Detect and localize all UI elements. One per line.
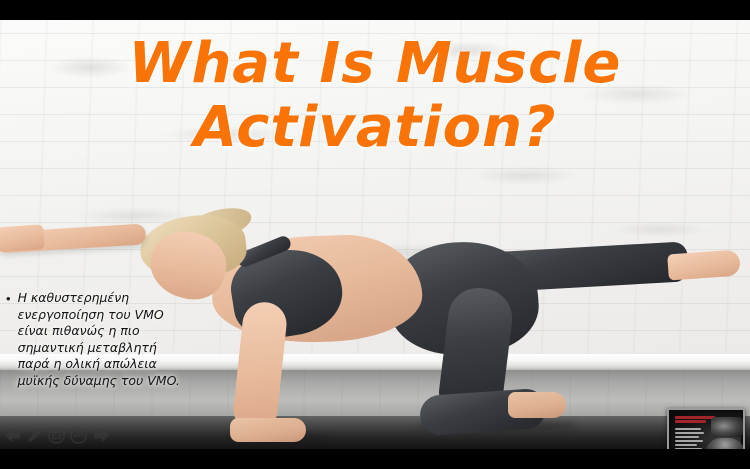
slideshow-toolbar[interactable] — [3, 424, 110, 446]
bullet-paragraph: Η καθυστερημένη ενεργοποίηση του VMO είν… — [18, 290, 186, 390]
slide-title: What Is Muscle Activation? — [0, 32, 750, 160]
kneeling-foot — [508, 392, 566, 418]
next-slide-thumbnail[interactable] — [667, 408, 745, 449]
thumbnail-text-line — [675, 444, 697, 446]
supporting-hand — [230, 418, 306, 442]
thumbnail-image-bottom — [705, 438, 745, 449]
thumbnail-text-line — [675, 428, 701, 430]
extended-foot — [667, 250, 741, 281]
bullet-marker: • — [6, 290, 11, 390]
slide-body-text: • Η καθυστερημένη ενεργοποίηση του VMO ε… — [6, 290, 186, 390]
thumbnail-title-line-1 — [675, 416, 715, 419]
floor-shadow — [0, 416, 750, 449]
thumbnail-content — [671, 412, 741, 449]
letterbox-bar-bottom — [0, 449, 750, 469]
thumbnail-title-line-2 — [675, 420, 706, 423]
slide-canvas[interactable]: What Is Muscle Activation? • Η καθυστερη… — [0, 20, 750, 449]
slide-title-line-1: What Is Muscle — [129, 31, 622, 96]
presentation-viewer[interactable]: What Is Muscle Activation? • Η καθυστερη… — [0, 0, 750, 469]
thumbnail-text-line — [675, 436, 699, 438]
slide-title-line-2: Activation? — [0, 96, 750, 160]
all-slides-icon[interactable] — [47, 426, 66, 445]
thumbnail-image-top — [711, 417, 743, 437]
thumbnail-text-line — [675, 432, 704, 434]
more-options-icon[interactable] — [69, 426, 88, 445]
pen-icon[interactable] — [25, 426, 44, 445]
previous-slide-arrow-icon[interactable] — [3, 426, 22, 445]
letterbox-bar-top — [0, 0, 750, 20]
thumbnail-text-line — [675, 440, 703, 442]
extended-hand — [0, 224, 45, 253]
next-slide-arrow-icon[interactable] — [91, 426, 110, 445]
